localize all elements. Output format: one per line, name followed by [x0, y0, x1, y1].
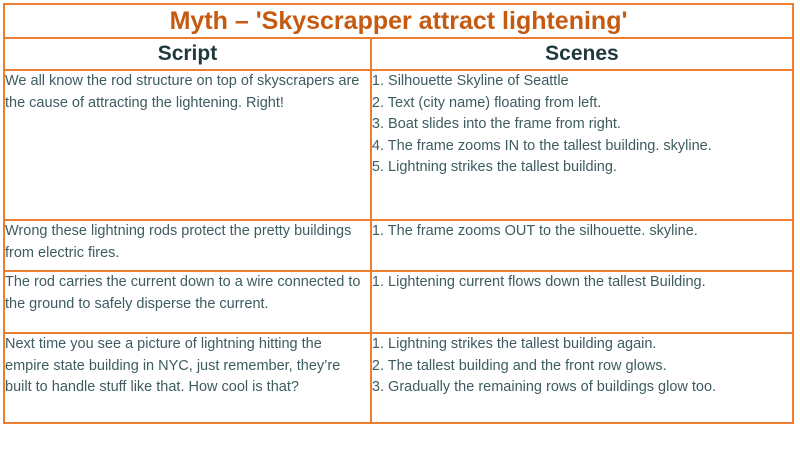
scenes-text: 1. The frame zooms OUT to the silhouette… — [372, 221, 792, 243]
script-cell: We all know the rod structure on top of … — [4, 70, 371, 220]
table-row: The rod carries the current down to a wi… — [4, 271, 793, 333]
page-title: Myth – 'Skyscrapper attract lightening' — [5, 6, 792, 36]
column-header-scenes-label: Scenes — [372, 41, 792, 67]
scenes-cell: 1. Lightening current flows down the tal… — [371, 271, 793, 333]
column-header-script-label: Script — [5, 41, 370, 67]
scenes-cell: 1. Silhouette Skyline of Seattle 2. Text… — [371, 70, 793, 220]
script-cell: The rod carries the current down to a wi… — [4, 271, 371, 333]
scenes-text: 1. Silhouette Skyline of Seattle 2. Text… — [372, 71, 792, 179]
scenes-text: 1. Lightening current flows down the tal… — [372, 272, 792, 294]
table-title-row: Myth – 'Skyscrapper attract lightening' — [4, 4, 793, 38]
column-header-scenes: Scenes — [371, 38, 793, 70]
table-title-cell: Myth – 'Skyscrapper attract lightening' — [4, 4, 793, 38]
script-text: The rod carries the current down to a wi… — [5, 272, 370, 315]
scenes-text: 1. Lightning strikes the tallest buildin… — [372, 334, 792, 399]
table-header-row: Script Scenes — [4, 38, 793, 70]
scenes-cell: 1. The frame zooms OUT to the silhouette… — [371, 220, 793, 271]
script-text: Next time you see a picture of lightning… — [5, 334, 370, 399]
script-cell: Next time you see a picture of lightning… — [4, 333, 371, 423]
column-header-script: Script — [4, 38, 371, 70]
script-cell: Wrong these lightning rods protect the p… — [4, 220, 371, 271]
slide-canvas: Myth – 'Skyscrapper attract lightening' … — [0, 0, 800, 450]
table-row: Next time you see a picture of lightning… — [4, 333, 793, 423]
storyboard-table: Myth – 'Skyscrapper attract lightening' … — [3, 3, 794, 424]
script-text: We all know the rod structure on top of … — [5, 71, 370, 114]
table-row: We all know the rod structure on top of … — [4, 70, 793, 220]
table-row: Wrong these lightning rods protect the p… — [4, 220, 793, 271]
script-text: Wrong these lightning rods protect the p… — [5, 221, 370, 264]
scenes-cell: 1. Lightning strikes the tallest buildin… — [371, 333, 793, 423]
